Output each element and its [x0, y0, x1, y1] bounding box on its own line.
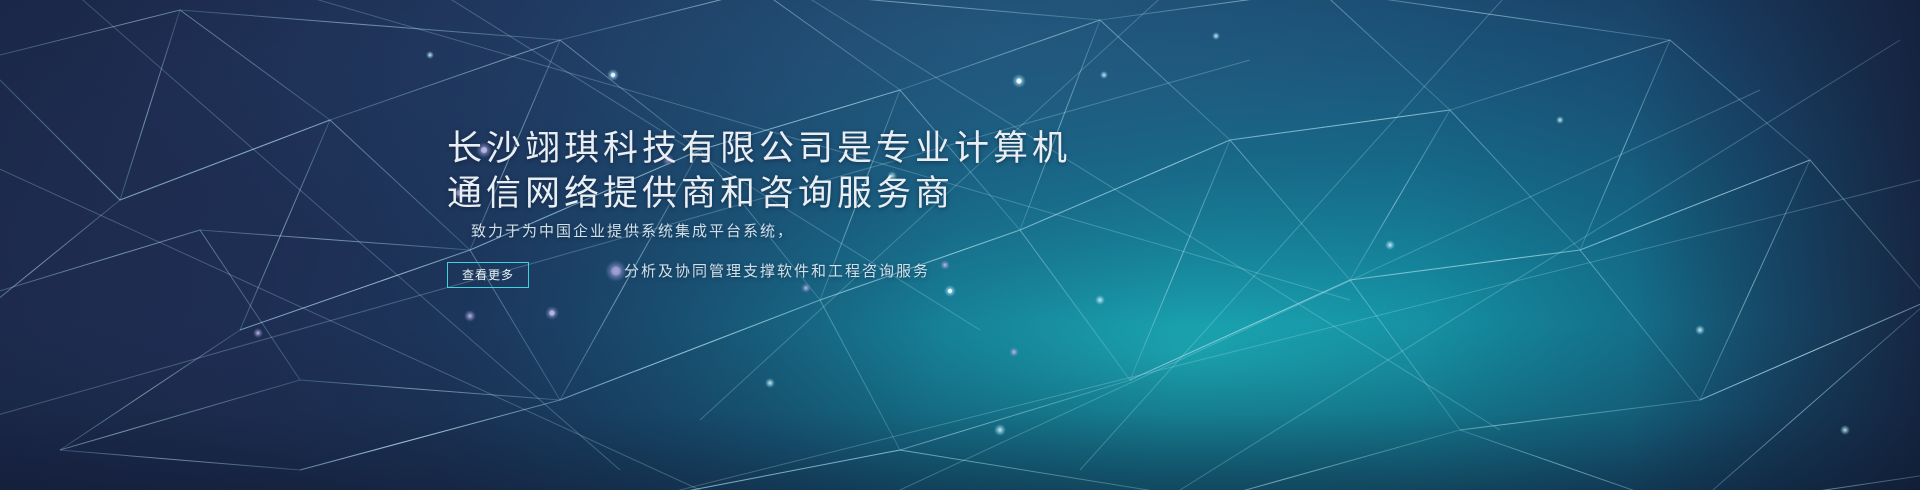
subtitle-line-1: 致力于为中国企业提供系统集成平台系统， — [471, 212, 1211, 252]
hero-banner: 长沙翊琪科技有限公司是专业计算机 通信网络提供商和咨询服务商 致力于为中国企业提… — [0, 0, 1920, 490]
headline-line-1: 长沙翊琪科技有限公司是专业计算机 — [447, 126, 1071, 171]
headline-line-2: 通信网络提供商和咨询服务商 — [447, 171, 1071, 216]
hero-headline: 长沙翊琪科技有限公司是专业计算机 通信网络提供商和咨询服务商 — [447, 126, 1071, 216]
hero-content: 长沙翊琪科技有限公司是专业计算机 通信网络提供商和咨询服务商 致力于为中国企业提… — [447, 0, 1207, 490]
subtitle-line-2: 分析及协同管理支撑软件和工程咨询服务 — [471, 252, 1211, 292]
view-more-button[interactable]: 查看更多 — [447, 262, 529, 288]
hero-subtitle: 致力于为中国企业提供系统集成平台系统， 分析及协同管理支撑软件和工程咨询服务 — [471, 212, 1211, 292]
